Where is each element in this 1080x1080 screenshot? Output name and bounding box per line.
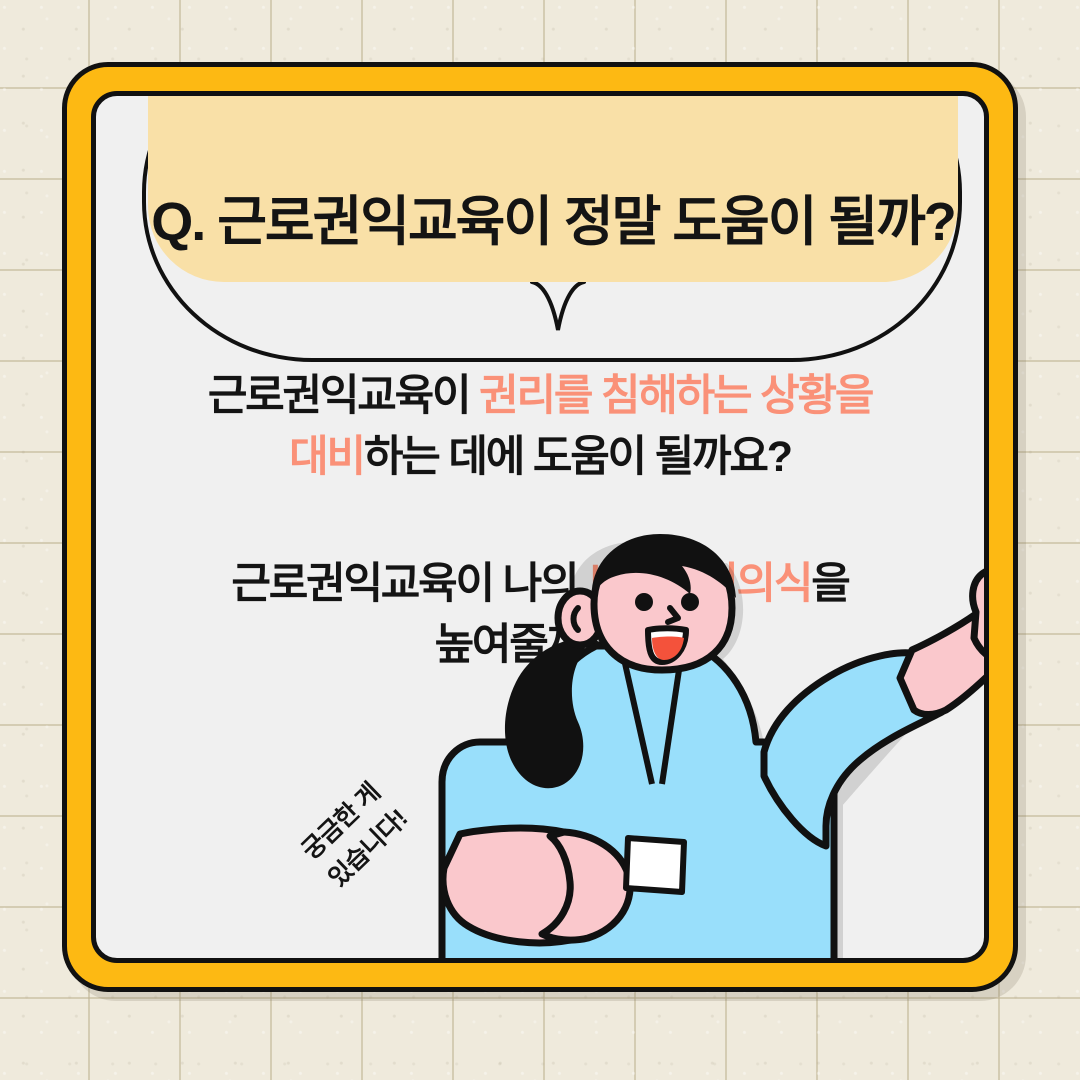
card-panel: Q. 근로권익교육이 정말 도움이 될까? 근로권익교육이 권리를 침해하는 상… — [91, 91, 989, 963]
question-1-line-1: 근로권익교육이 권리를 침해하는 상황을 — [152, 366, 928, 427]
id-badge — [626, 838, 684, 892]
text-plain: 근로권익교육이 — [208, 372, 479, 420]
text-highlight: 대비 — [289, 433, 364, 481]
eye-right — [681, 593, 699, 611]
text-highlight: 권리를 침해하는 상황을 — [479, 372, 872, 420]
eye-left — [635, 593, 653, 611]
speech-bubble-tail — [530, 278, 586, 334]
ponytail — [505, 638, 586, 788]
character-illustration — [364, 546, 989, 963]
page-title: Q. 근로권익교육이 정말 도움이 될까? — [148, 91, 958, 282]
card-frame: Q. 근로권익교육이 정말 도움이 될까? 근로권익교육이 권리를 침해하는 상… — [62, 62, 1018, 992]
text-plain: 하는 데에 도움이 될까요? — [364, 433, 791, 481]
question-paragraph-1: 근로권익교육이 권리를 침해하는 상황을 대비하는 데에 도움이 될까요? — [96, 366, 984, 488]
question-1-line-2: 대비하는 데에 도움이 될까요? — [152, 427, 928, 488]
